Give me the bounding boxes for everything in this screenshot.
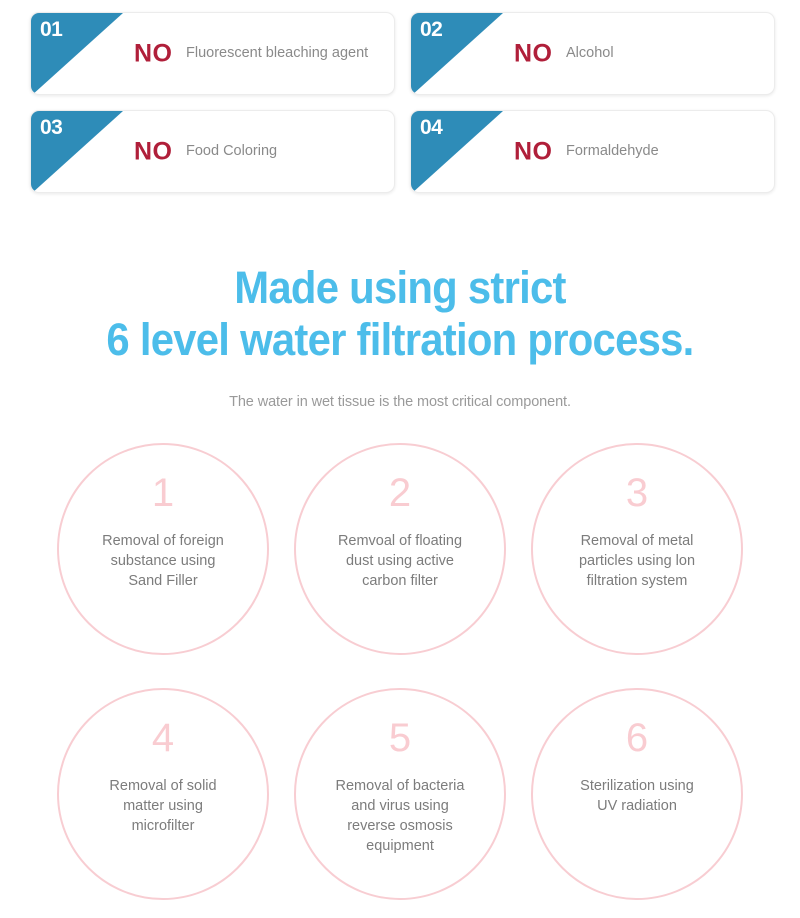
page-subtitle: The water in wet tissue is the most crit… <box>0 394 800 410</box>
card-number: 04 <box>420 115 442 140</box>
step-number: 3 <box>626 473 648 513</box>
step-description: Remvoal of floating dust using active ca… <box>300 531 500 591</box>
step-number: 1 <box>152 473 174 513</box>
filtration-step: 4 Removal of solid matter using microfil… <box>45 688 282 918</box>
page-title: Made using strict 6 level water filtrati… <box>28 262 772 366</box>
no-label: NO <box>514 137 553 166</box>
filtration-steps: 1 Removal of foreign substance using San… <box>0 443 800 918</box>
product-info-page: 01 NO Fluorescent bleaching agent 02 NO … <box>0 0 800 918</box>
page-title-line-2: 6 level water filtration process. <box>28 314 772 366</box>
no-card: 04 NO Formaldehyde <box>410 110 775 193</box>
filtration-step: 2 Remvoal of floating dust using active … <box>282 443 519 688</box>
card-ingredient-text: Fluorescent bleaching agent <box>186 44 368 64</box>
no-label: NO <box>134 137 173 166</box>
card-ingredient-text: Formaldehyde <box>566 142 659 162</box>
step-number: 4 <box>152 718 174 758</box>
card-number: 03 <box>40 115 62 140</box>
page-title-line-1: Made using strict <box>28 262 772 314</box>
step-number: 6 <box>626 718 648 758</box>
no-label: NO <box>514 39 553 68</box>
step-description: Removal of bacteria and virus using reve… <box>300 776 500 856</box>
card-number: 01 <box>40 17 62 42</box>
no-card: 02 NO Alcohol <box>410 12 775 95</box>
step-description: Removal of solid matter using microfilte… <box>63 776 263 836</box>
step-description: Sterilization using UV radiation <box>537 776 737 816</box>
filtration-step: 3 Removal of metal particles using lon f… <box>519 443 756 688</box>
no-label: NO <box>134 39 173 68</box>
filtration-step: 1 Removal of foreign substance using San… <box>45 443 282 688</box>
step-number: 2 <box>389 473 411 513</box>
step-description: Removal of metal particles using lon fil… <box>537 531 737 591</box>
no-card: 03 NO Food Coloring <box>30 110 395 193</box>
no-card: 01 NO Fluorescent bleaching agent <box>30 12 395 95</box>
step-description: Removal of foreign substance using Sand … <box>63 531 263 591</box>
card-ingredient-text: Alcohol <box>566 44 614 64</box>
filtration-step: 6 Sterilization using UV radiation <box>519 688 756 918</box>
filtration-step: 5 Removal of bacteria and virus using re… <box>282 688 519 918</box>
card-number: 02 <box>420 17 442 42</box>
card-ingredient-text: Food Coloring <box>186 142 277 162</box>
step-number: 5 <box>389 718 411 758</box>
no-ingredient-cards: 01 NO Fluorescent bleaching agent 02 NO … <box>30 12 775 193</box>
